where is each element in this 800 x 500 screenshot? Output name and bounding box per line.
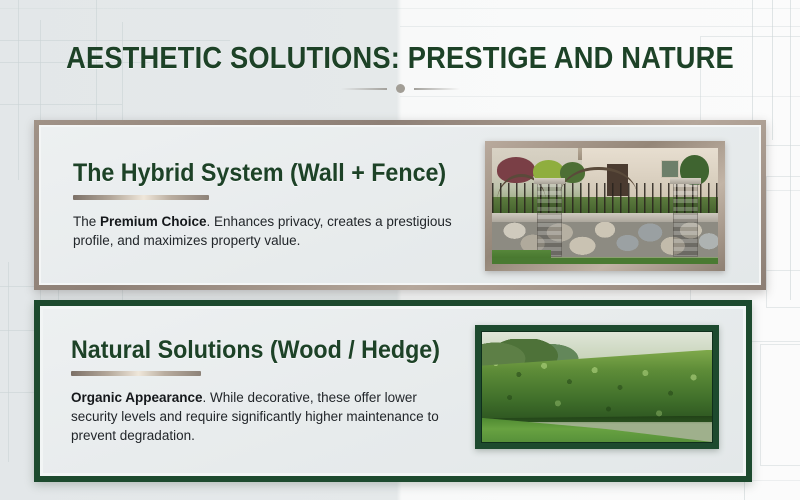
- card-hybrid-body: The Premium Choice. Enhances privacy, cr…: [73, 212, 457, 250]
- blueprint-line: [400, 96, 800, 97]
- page-title-wrapper: AESTHETIC SOLUTIONS: PRESTIGE AND NATURE: [0, 40, 800, 76]
- divider-line-right: [414, 88, 460, 90]
- card-natural-solutions[interactable]: Natural Solutions (Wood / Hedge) Organic…: [34, 300, 752, 482]
- card-hybrid-body-lead: The: [73, 214, 100, 229]
- card-hybrid-system[interactable]: The Hybrid System (Wall + Fence) The Pre…: [34, 120, 766, 290]
- page-title: AESTHETIC SOLUTIONS: PRESTIGE AND NATURE: [48, 40, 752, 76]
- slide-canvas: AESTHETIC SOLUTIONS: PRESTIGE AND NATURE…: [0, 0, 800, 500]
- divider-dot-icon: [396, 84, 405, 93]
- card-natural-heading: Natural Solutions (Wood / Hedge): [71, 337, 434, 365]
- card-hybrid-body-strong: Premium Choice: [100, 214, 207, 229]
- card-natural-body-strong: Organic Appearance: [71, 390, 203, 405]
- card-hybrid-text-block: The Hybrid System (Wall + Fence) The Pre…: [41, 160, 457, 250]
- card-natural-heading-rule: [71, 371, 201, 376]
- blueprint-line: [0, 8, 800, 9]
- card-natural-body: Organic Appearance. While decorative, th…: [71, 388, 461, 445]
- photo-stone-pillar: [673, 183, 698, 257]
- stone-wall-with-iron-fence-photo: [485, 141, 725, 271]
- divider-line-left: [341, 88, 387, 90]
- blueprint-line: [8, 262, 9, 462]
- card-natural-text-block: Natural Solutions (Wood / Hedge) Organic…: [43, 337, 461, 446]
- photo-stone-pillar: [537, 183, 562, 257]
- blueprint-box: [766, 176, 800, 308]
- title-divider-ornament: [0, 84, 800, 93]
- card-hybrid-heading-rule: [73, 195, 209, 200]
- stone-wall-photo-canvas: [492, 148, 718, 264]
- blueprint-line: [0, 104, 122, 105]
- blueprint-box: [760, 344, 800, 466]
- card-hybrid-heading: The Hybrid System (Wall + Fence): [73, 160, 430, 188]
- photo-lawn-strip: [492, 258, 718, 264]
- card-natural-inner: Natural Solutions (Wood / Hedge) Organic…: [40, 306, 746, 476]
- hedge-photo-canvas: [481, 331, 713, 443]
- trimmed-hedge-row-photo: [475, 325, 719, 449]
- card-hybrid-inner: The Hybrid System (Wall + Fence) The Pre…: [39, 125, 761, 285]
- blueprint-line: [400, 26, 800, 27]
